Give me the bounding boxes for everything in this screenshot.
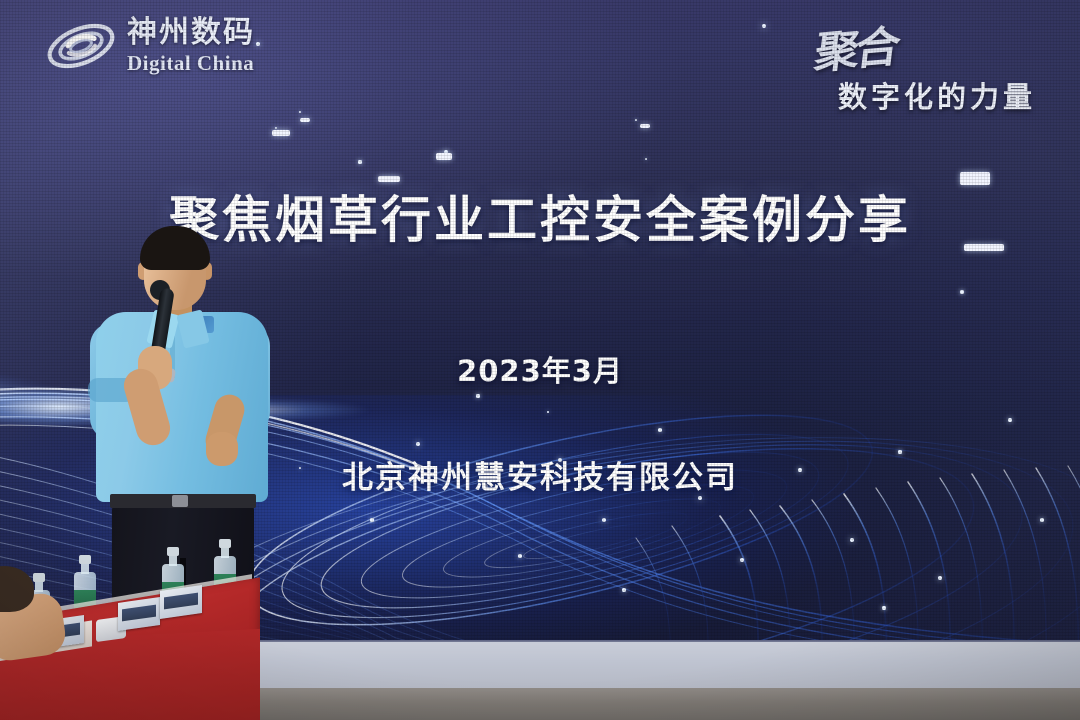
speaker-hair bbox=[140, 226, 210, 270]
bottle-cap bbox=[167, 547, 179, 556]
event-logo: 聚合 数字化的力量 bbox=[792, 14, 1062, 114]
light-particle bbox=[299, 111, 301, 113]
light-streak bbox=[300, 118, 310, 122]
light-streak bbox=[640, 124, 650, 128]
name-card-text bbox=[122, 605, 156, 622]
light-particle bbox=[444, 150, 448, 154]
bottle-cap bbox=[33, 573, 45, 582]
light-particle bbox=[358, 160, 361, 163]
name-card bbox=[118, 597, 160, 631]
digital-china-swirl-icon bbox=[44, 18, 118, 74]
light-particle bbox=[762, 24, 767, 29]
presentation-photo: 神州数码 Digital China 聚合 数字化的力量 聚焦烟草行业工控安全案… bbox=[0, 0, 1080, 720]
brand-name-en: Digital China bbox=[127, 53, 255, 74]
event-tagline: 数字化的力量 bbox=[838, 74, 1036, 116]
light-streak bbox=[436, 153, 452, 160]
speaker-hand-right bbox=[206, 432, 238, 466]
brand-name-cn: 神州数码 bbox=[127, 18, 255, 48]
light-particle bbox=[645, 158, 648, 161]
light-particle bbox=[960, 290, 963, 293]
speaker-belt-buckle bbox=[172, 495, 188, 507]
name-card bbox=[160, 585, 202, 619]
light-particle bbox=[635, 119, 637, 121]
digital-china-wordmark: 神州数码 Digital China bbox=[127, 18, 255, 74]
bottle-cap bbox=[79, 555, 91, 564]
light-streak bbox=[272, 130, 290, 136]
digital-china-logo: 神州数码 Digital China bbox=[44, 18, 255, 74]
event-calligraphy: 聚合 bbox=[811, 11, 900, 82]
light-particle bbox=[256, 42, 260, 46]
light-particle bbox=[275, 127, 278, 130]
name-card-text bbox=[164, 593, 198, 610]
bottle-cap bbox=[219, 539, 231, 548]
